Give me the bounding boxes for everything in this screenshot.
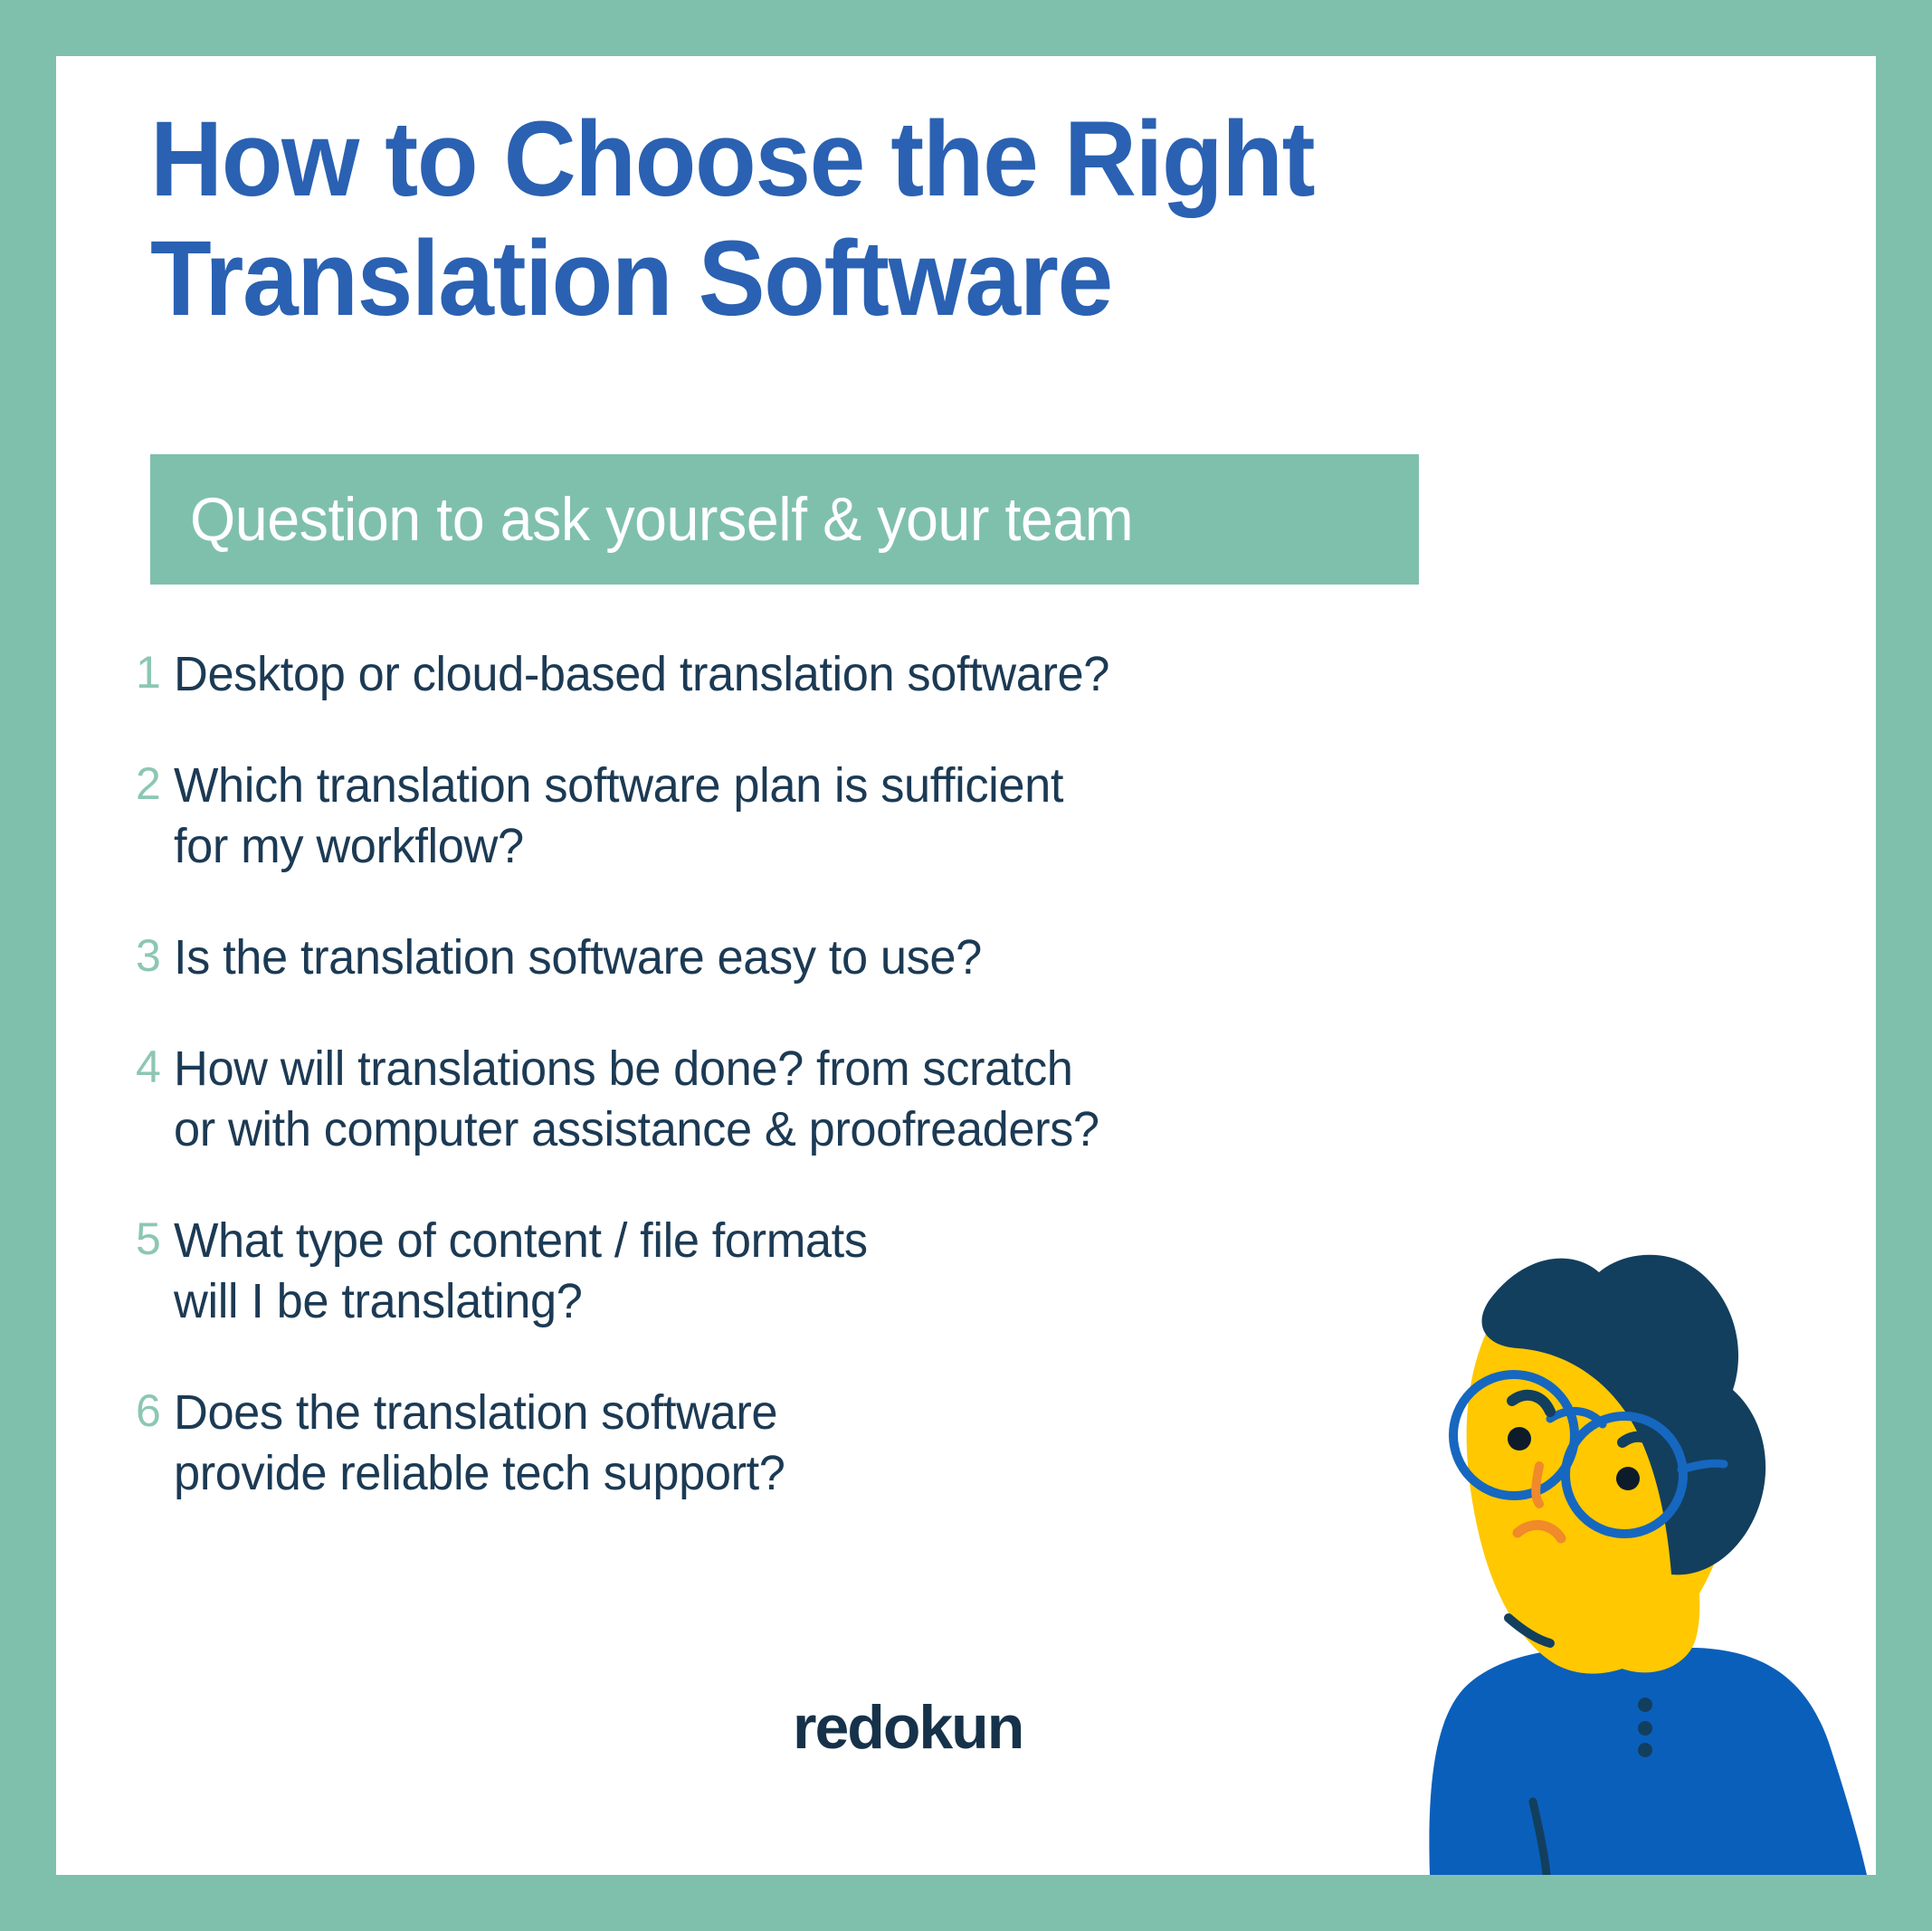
shirt-shape: [1429, 1648, 1867, 1875]
list-item: 4 How will translations be done? from sc…: [56, 1039, 1468, 1160]
thinking-person-illustration: [1262, 1241, 1876, 1875]
list-item-question: Desktop or cloud-based translation softw…: [174, 644, 1429, 705]
right-eye: [1616, 1467, 1640, 1490]
list-item-number: 3: [56, 927, 174, 984]
list-item: 1 Desktop or cloud-based translation sof…: [56, 644, 1468, 705]
list-item-number: 4: [56, 1039, 174, 1095]
poster-frame: How to Choose the Right Translation Soft…: [0, 0, 1932, 1931]
shirt-button: [1638, 1721, 1652, 1736]
shirt-button: [1638, 1743, 1652, 1757]
question-list: 1 Desktop or cloud-based translation sof…: [56, 644, 1468, 1555]
list-item-question: Is the translation software easy to use?: [174, 927, 1429, 988]
redokun-logo: redokun: [793, 1692, 1023, 1763]
list-item-question: How will translations be done? from scra…: [174, 1039, 1429, 1160]
list-item-number: 1: [56, 644, 174, 700]
nose-shape: [1536, 1466, 1539, 1504]
list-item-question: Which translation software plan is suffi…: [174, 756, 1429, 877]
list-item-number: 5: [56, 1211, 174, 1267]
left-eye: [1508, 1427, 1531, 1451]
poster-canvas: How to Choose the Right Translation Soft…: [56, 56, 1876, 1875]
list-item-number: 2: [56, 756, 174, 812]
list-item: 2 Which translation software plan is suf…: [56, 756, 1468, 877]
list-item-number: 6: [56, 1383, 174, 1439]
list-item: 6 Does the translation software provide …: [56, 1383, 1468, 1504]
section-banner: Question to ask yourself & your team: [150, 454, 1419, 585]
list-item-question: Does the translation software provide re…: [174, 1383, 1429, 1504]
list-item: 3 Is the translation software easy to us…: [56, 927, 1468, 988]
list-item-question: What type of content / file formats will…: [174, 1211, 1429, 1332]
shirt-button: [1638, 1698, 1652, 1712]
list-item: 5 What type of content / file formats wi…: [56, 1211, 1468, 1332]
page-title: How to Choose the Right Translation Soft…: [150, 100, 1358, 338]
section-banner-label: Question to ask yourself & your team: [190, 484, 1133, 555]
